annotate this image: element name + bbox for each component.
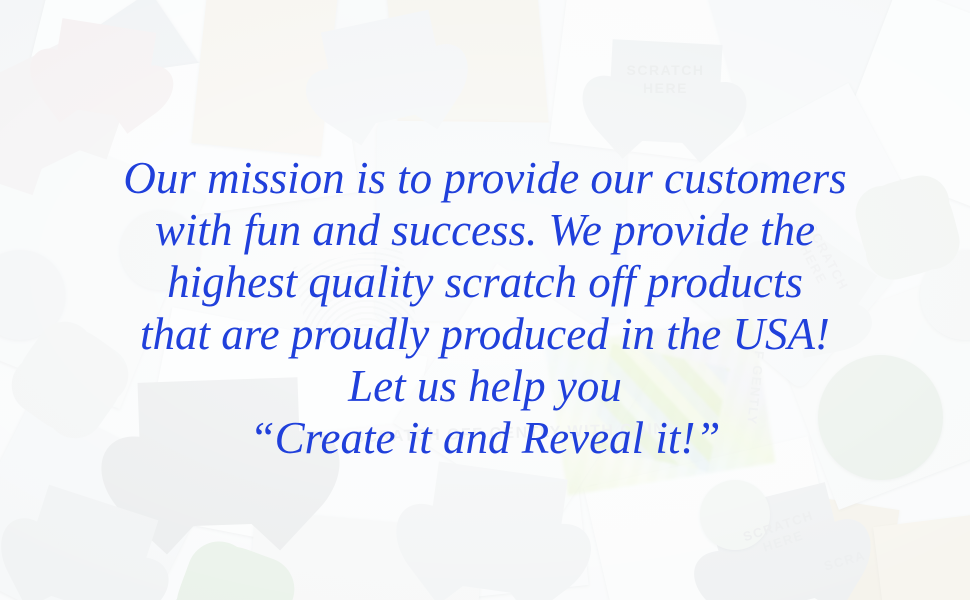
headline-line-5: Let us help you xyxy=(14,360,956,412)
headline-line-2: with fun and success. We provide the xyxy=(14,204,956,256)
mission-statement-banner: SCRATCHHERE SCRATCH OFF GENTLY WITH COIN… xyxy=(0,0,970,600)
headline-line-1: Our mission is to provide our customers xyxy=(14,152,956,204)
headline-line-6: “Create it and Reveal it!” xyxy=(14,412,956,464)
headline-line-4: that are proudly produced in the USA! xyxy=(14,308,956,360)
headline-line-3: highest quality scratch off products xyxy=(14,256,956,308)
mission-statement-text: Our mission is to provide our customers … xyxy=(0,152,970,464)
